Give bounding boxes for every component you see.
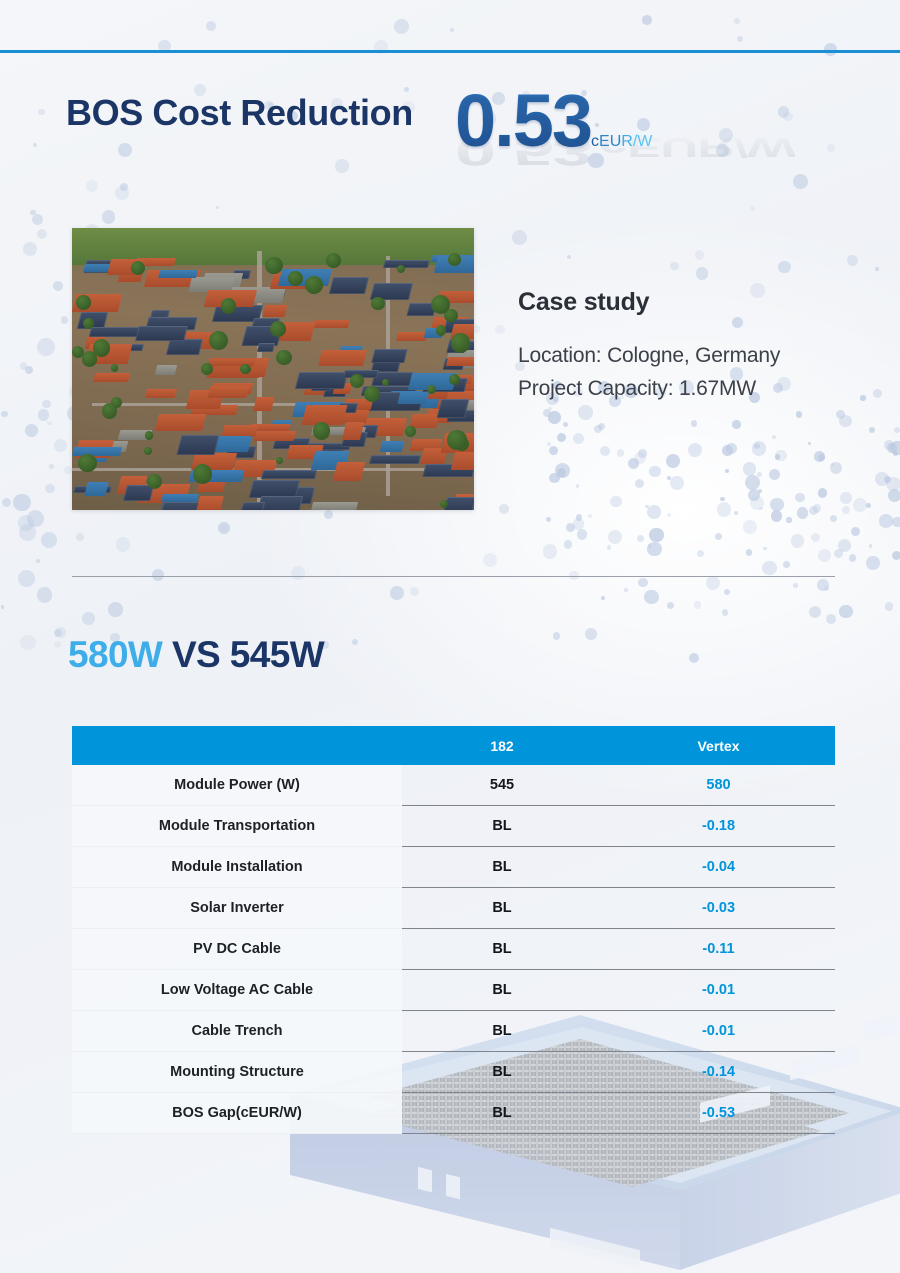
table-cell-vertex: -0.11: [602, 941, 835, 957]
table-cell-vertex: -0.04: [602, 859, 835, 875]
headline-value-group: 0.53cEUR/W: [455, 78, 652, 198]
table-body: Module Power (W)545580Module Transportat…: [72, 765, 835, 1134]
table-cell-vertex: -0.18: [602, 818, 835, 834]
section-heading-highlight: 580W: [68, 634, 162, 675]
table-cell-182: BL: [402, 1105, 602, 1121]
header: BOS Cost Reduction 0.53cEUR/W 0.53cEUR/W: [0, 78, 900, 198]
table-row: Mounting StructureBL-0.14: [72, 1052, 835, 1093]
table-header-182: 182: [402, 738, 602, 754]
headline-unit: cEUR/W: [591, 133, 652, 150]
section-heading: 580W VS 545W: [68, 634, 324, 676]
table-cell-label: Mounting Structure: [72, 1052, 402, 1093]
table-row: Low Voltage AC CableBL-0.01: [72, 970, 835, 1011]
table-row: Module InstallationBL-0.04: [72, 847, 835, 888]
table-cell-vertex: -0.53: [602, 1105, 835, 1121]
table-cell-182: BL: [402, 1064, 602, 1080]
table-row: BOS Gap(cEUR/W)BL-0.53: [72, 1093, 835, 1134]
section-divider: [72, 576, 835, 577]
poster-page: BOS Cost Reduction 0.53cEUR/W 0.53cEUR/W…: [0, 0, 900, 1273]
aerial-village-photo: [72, 228, 474, 510]
case-study-block: Case study Location: Cologne, Germany Pr…: [518, 288, 858, 405]
table-cell-label: BOS Gap(cEUR/W): [72, 1093, 402, 1134]
table-cell-label: PV DC Cable: [72, 929, 402, 970]
table-row: Solar InverterBL-0.03: [72, 888, 835, 929]
table-header-row: 182 Vertex: [72, 726, 835, 765]
table-cell-label: Solar Inverter: [72, 888, 402, 929]
table-cell-label: Low Voltage AC Cable: [72, 970, 402, 1011]
table-row: Cable TrenchBL-0.01: [72, 1011, 835, 1052]
section-heading-rest: VS 545W: [162, 634, 324, 675]
table-cell-182: 545: [402, 777, 602, 793]
table-cell-vertex: -0.01: [602, 1023, 835, 1039]
table-row: Module Power (W)545580: [72, 765, 835, 806]
table-cell-182: BL: [402, 982, 602, 998]
table-cell-vertex: -0.03: [602, 900, 835, 916]
case-study-capacity: Project Capacity: 1.67MW: [518, 372, 858, 405]
table-cell-label: Module Power (W): [72, 765, 402, 806]
table-cell-label: Module Transportation: [72, 806, 402, 847]
table-cell-182: BL: [402, 818, 602, 834]
table-cell-182: BL: [402, 941, 602, 957]
table-row: PV DC CableBL-0.11: [72, 929, 835, 970]
table-cell-182: BL: [402, 859, 602, 875]
table-cell-vertex: -0.14: [602, 1064, 835, 1080]
table-cell-label: Module Installation: [72, 847, 402, 888]
top-rule: [0, 50, 900, 53]
case-study-heading: Case study: [518, 288, 858, 317]
table-cell-vertex: 580: [602, 777, 835, 793]
case-study-location: Location: Cologne, Germany: [518, 339, 858, 372]
table-row: Module TransportationBL-0.18: [72, 806, 835, 847]
table-header-vertex: Vertex: [602, 738, 835, 754]
headline-value: 0.53: [455, 79, 591, 162]
comparison-table: 182 Vertex Module Power (W)545580Module …: [72, 726, 835, 1134]
table-cell-182: BL: [402, 1023, 602, 1039]
page-title: BOS Cost Reduction: [66, 92, 413, 134]
table-cell-vertex: -0.01: [602, 982, 835, 998]
table-cell-label: Cable Trench: [72, 1011, 402, 1052]
table-cell-182: BL: [402, 900, 602, 916]
